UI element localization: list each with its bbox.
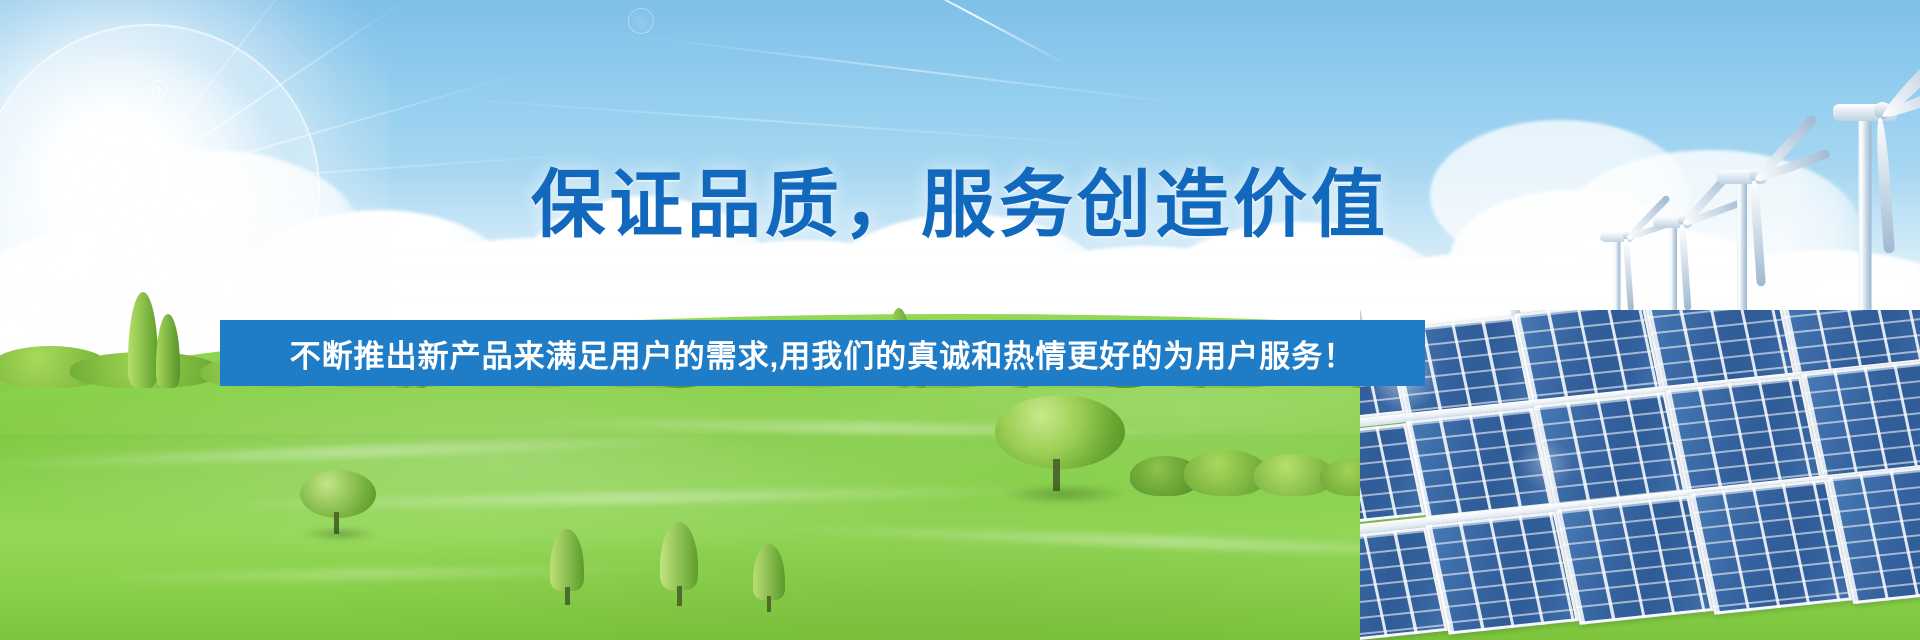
- lawn-tree: [745, 540, 797, 612]
- lawn-tree: [650, 520, 712, 606]
- tree-shadow: [302, 527, 378, 541]
- shrub-cluster: [1130, 440, 1390, 496]
- subtitle-text: 不断推出新产品来满足用户的需求,用我们的真诚和热情更好的为用户服务！: [290, 331, 1356, 376]
- solar-panel: [1689, 479, 1853, 615]
- hero-banner: 保证品质，服务创造价值 不断推出新产品来满足用户的需求,用我们的真诚和热情更好的…: [0, 0, 1920, 640]
- solar-panel-array: [1360, 310, 1920, 640]
- subtitle-banner-bar: 不断推出新产品来满足用户的需求,用我们的真诚和热情更好的为用户服务！: [220, 320, 1425, 386]
- solar-panel: [1426, 511, 1579, 634]
- tree-shadow: [1002, 484, 1126, 504]
- lawn-tree: [540, 525, 598, 605]
- page-title: 保证品质，服务创造价值: [0, 168, 1920, 242]
- lens-flare-dot: [628, 8, 654, 34]
- solar-panel: [1555, 495, 1714, 625]
- lens-flare-dot: [152, 86, 160, 94]
- lawn-tree: [995, 395, 1125, 495]
